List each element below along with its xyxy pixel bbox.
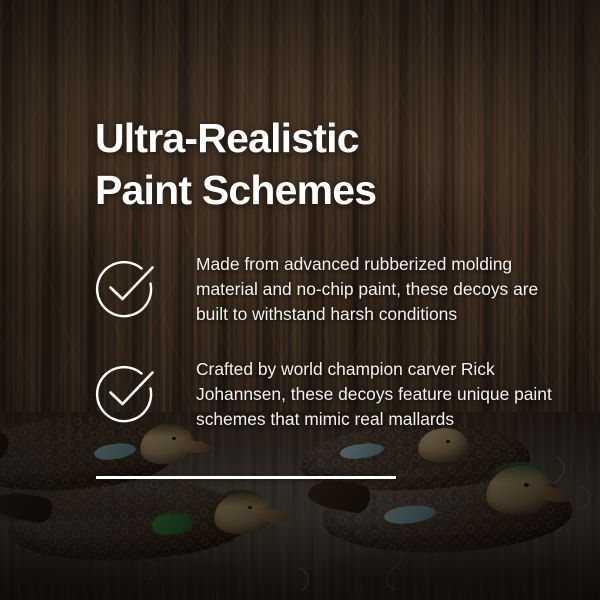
page-title: Ultra-Realistic Paint Schemes bbox=[95, 112, 515, 217]
horizontal-rule bbox=[96, 476, 396, 479]
promo-card: Ultra-Realistic Paint Schemes Made from … bbox=[0, 0, 600, 600]
feature-bullet-text: Crafted by world champion carver Rick Jo… bbox=[196, 357, 565, 432]
feature-bullet-item: Crafted by world champion carver Rick Jo… bbox=[95, 357, 565, 432]
check-circle-icon bbox=[95, 361, 157, 423]
page-title-line-1: Ultra-Realistic bbox=[95, 112, 515, 164]
content-overlay: Ultra-Realistic Paint Schemes Made from … bbox=[0, 0, 600, 600]
feature-bullet-item: Made from advanced rubberized molding ma… bbox=[95, 252, 565, 327]
check-circle-icon bbox=[95, 256, 157, 318]
feature-bullet-text: Made from advanced rubberized molding ma… bbox=[196, 252, 565, 327]
page-title-line-2: Paint Schemes bbox=[95, 164, 515, 216]
feature-bullet-list: Made from advanced rubberized molding ma… bbox=[95, 252, 565, 462]
